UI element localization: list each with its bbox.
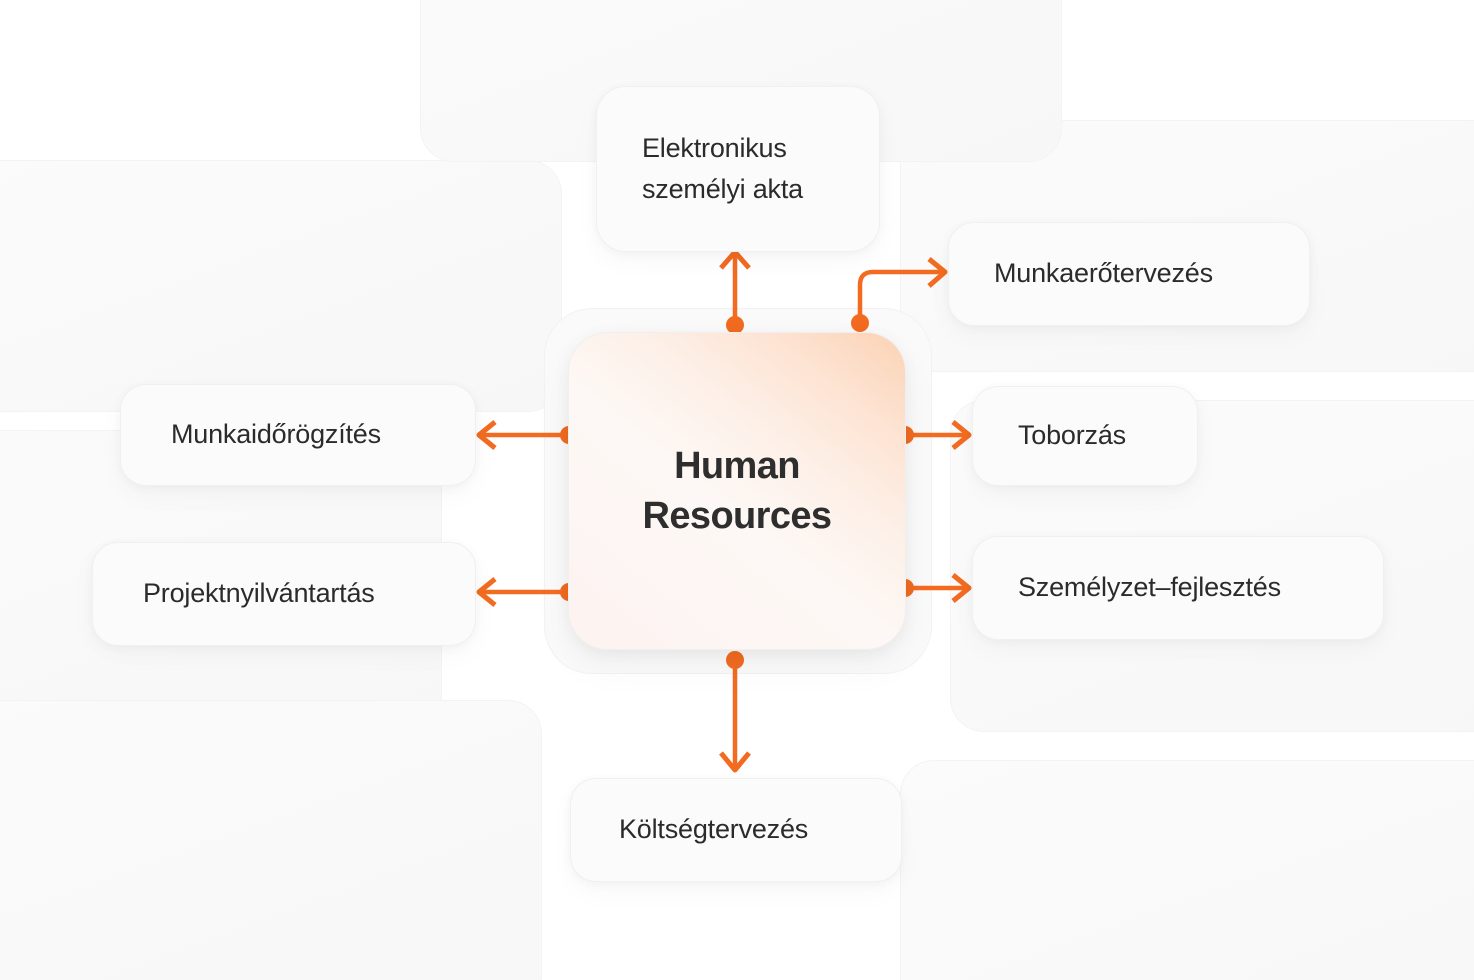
- bg-shape-bottom-right: [900, 760, 1474, 980]
- connector-arrowhead: [479, 579, 495, 605]
- node-label: Elektronikus személyi akta: [642, 128, 803, 210]
- mindmap-canvas: Human Resources Elektronikus személyi ak…: [0, 0, 1474, 980]
- node-munkaerotervezes[interactable]: Munkaerőtervezés: [948, 222, 1310, 326]
- node-label: Személyzet–fejlesztés: [1018, 567, 1281, 608]
- connector-arrowhead: [929, 259, 945, 286]
- node-projektnyilvantartas[interactable]: Projektnyilvántartás: [92, 542, 476, 646]
- bg-shape-bottom-left: [0, 700, 542, 980]
- center-node-human-resources[interactable]: Human Resources: [568, 332, 906, 650]
- connector-arrowhead: [479, 422, 495, 448]
- bg-shape-top-left: [0, 160, 562, 412]
- node-elektronikus-szemelyi-akta[interactable]: Elektronikus személyi akta: [596, 86, 880, 252]
- node-munkaidorogzites[interactable]: Munkaidőrögzítés: [120, 384, 476, 486]
- connector-arrowhead: [953, 575, 969, 601]
- node-label: Költségtervezés: [619, 809, 808, 850]
- node-label: Toborzás: [1018, 415, 1126, 456]
- node-toborzas[interactable]: Toborzás: [972, 386, 1198, 486]
- connector-arrowhead: [721, 753, 749, 770]
- node-label: Projektnyilvántartás: [143, 573, 375, 614]
- node-label: Munkaerőtervezés: [994, 253, 1213, 294]
- node-szemelyzet-fejlesztes[interactable]: Személyzet–fejlesztés: [972, 536, 1384, 640]
- connector-arrowhead: [721, 252, 749, 268]
- node-label: Munkaidőrögzítés: [171, 414, 381, 455]
- center-node-label: Human Resources: [643, 441, 832, 541]
- connector-arrowhead: [953, 422, 969, 448]
- node-koltsegtervezes[interactable]: Költségtervezés: [570, 778, 902, 882]
